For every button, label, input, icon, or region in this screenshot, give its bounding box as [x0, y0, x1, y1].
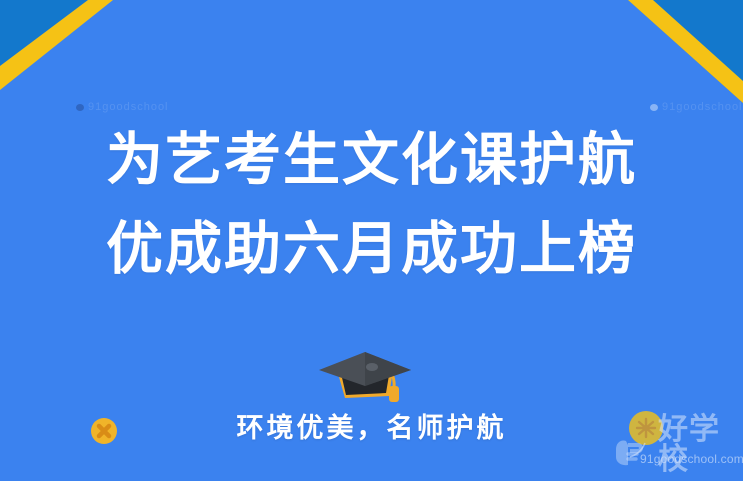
headline-line-2: 优成助六月成功上榜 — [0, 221, 743, 278]
faint-watermark-right-text: 91goodschool — [662, 101, 743, 113]
corner-triangle-top-right — [628, 0, 743, 103]
faint-watermark-dot-icon — [76, 104, 84, 111]
corner-stripe-top-right — [628, 0, 743, 103]
x-mark-badge-icon — [90, 417, 118, 445]
watermark-brand-text: 好学校 — [658, 415, 743, 475]
corner-stripe-top-left — [0, 0, 113, 90]
graduation-cap-icon — [315, 348, 415, 406]
faint-watermark-left-text: 91goodschool — [88, 101, 169, 113]
faint-watermark-right: 91goodschool — [650, 101, 743, 113]
watermark-url-text: 91goodschool.com — [640, 453, 743, 465]
headline-line-1: 为艺考生文化课护航 — [0, 132, 743, 189]
promo-banner: 91goodschool 91goodschool 为艺考生文化课护航 优成助六… — [0, 0, 743, 481]
faint-watermark-dot-icon — [650, 104, 658, 111]
faint-watermark-left: 91goodschool — [76, 101, 169, 113]
brand-watermark: 好学校 91goodschool.com — [612, 409, 743, 475]
corner-triangle-top-left — [0, 0, 88, 66]
